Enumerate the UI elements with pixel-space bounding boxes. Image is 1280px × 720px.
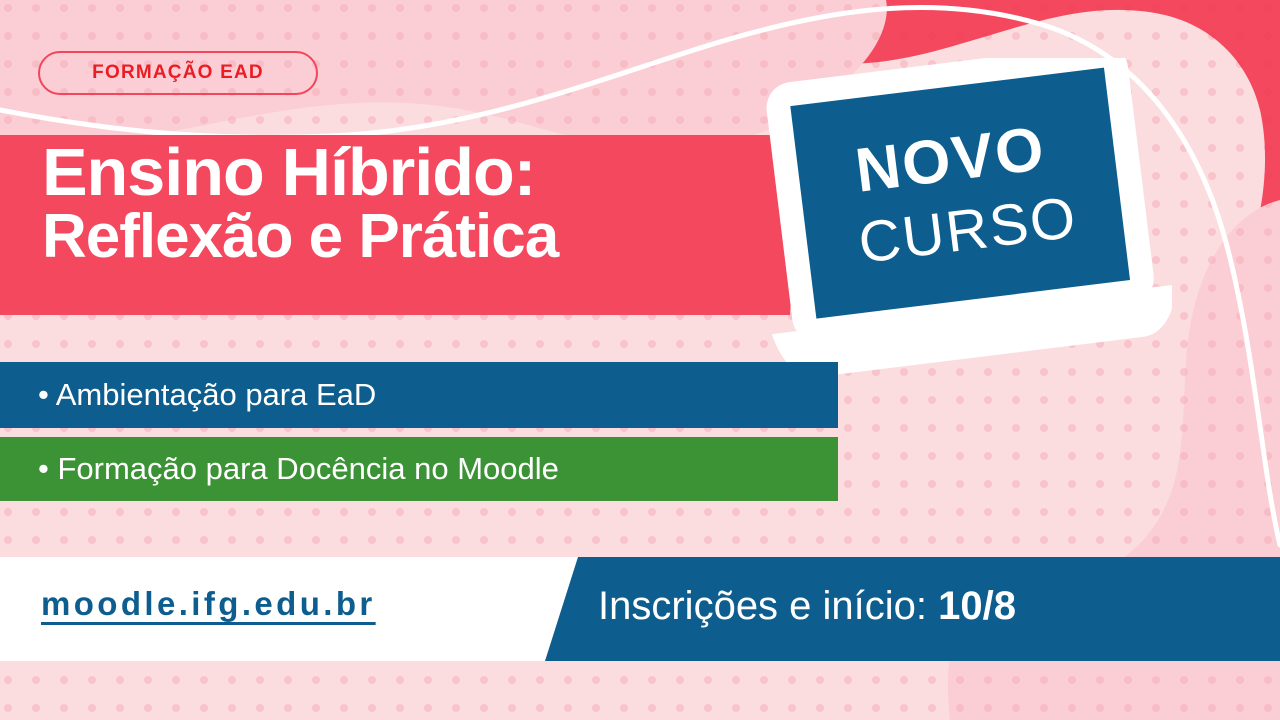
enrollment-cta: Inscrições e início: 10/8 [598, 584, 1016, 629]
formacao-ead-badge: FORMAÇÃO EAD [38, 51, 318, 95]
badge-label: FORMAÇÃO EAD [92, 62, 264, 84]
title-line-secondary: Reflexão e Prática [42, 207, 802, 267]
promo-banner: FORMAÇÃO EAD Ensino Híbrido: Reflexão e … [0, 0, 1280, 720]
course-item-label: • Ambientação para EaD [38, 377, 376, 413]
course-item-label: • Formação para Docência no Moodle [38, 451, 559, 487]
course-item-moodle: • Formação para Docência no Moodle [0, 437, 838, 501]
page-title: Ensino Híbrido: Reflexão e Prática [42, 140, 802, 267]
enrollment-cta-prefix: Inscrições e início: [598, 584, 938, 628]
course-item-ambientacao: • Ambientação para EaD [0, 362, 838, 428]
enrollment-cta-date: 10/8 [938, 584, 1016, 628]
title-line-primary: Ensino Híbrido: [42, 140, 817, 205]
laptop-illustration: NOVO CURSO [752, 58, 1172, 388]
laptop-icon [752, 58, 1172, 388]
moodle-url-link[interactable]: moodle.ifg.edu.br [41, 585, 376, 623]
